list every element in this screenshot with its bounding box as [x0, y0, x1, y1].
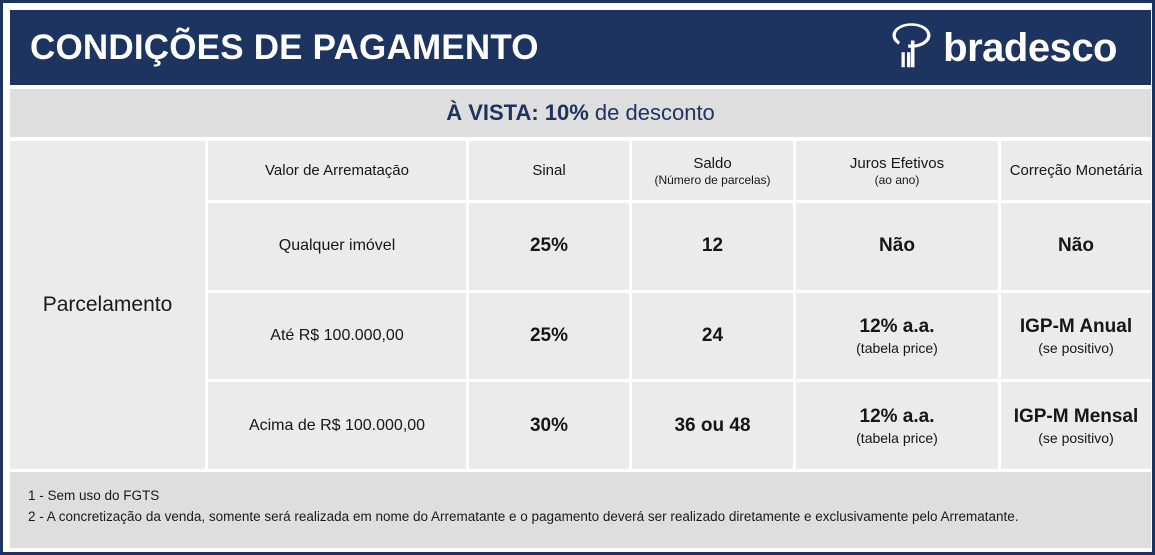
footnotes-section: 1 - Sem uso do FGTS 2 - A concretização …: [10, 472, 1151, 548]
cell-correcao: Não: [1001, 203, 1151, 290]
cell-valor-text: Até R$ 100.000,00: [270, 327, 403, 345]
cell-juros-note: (tabela price): [856, 430, 938, 446]
cell-saldo-text: 24: [702, 325, 723, 347]
column-header-correcao-title: Correção Monetária: [1010, 162, 1143, 179]
cell-valor: Qualquer imóvel: [208, 203, 466, 290]
footnote-1: 1 - Sem uso do FGTS: [28, 486, 1151, 507]
cell-valor: Acima de R$ 100.000,00: [208, 382, 466, 469]
cell-saldo: 24: [632, 293, 793, 380]
footnote-2: 2 - A concretização da venda, somente se…: [28, 507, 1151, 528]
table-row: Até R$ 100.000,00 25% 24 12% a.a. (tabel…: [208, 293, 1151, 380]
cell-saldo: 12: [632, 203, 793, 290]
table-grid: Valor de Arremataçāo Sinal Saldo (Número…: [208, 141, 1151, 469]
cell-juros: 12% a.a. (tabela price): [796, 382, 998, 469]
column-header-saldo: Saldo (Número de parcelas): [632, 141, 793, 200]
bradesco-tree-logo-icon: [881, 19, 937, 76]
table-header-row: Valor de Arremataçāo Sinal Saldo (Número…: [208, 141, 1151, 200]
cell-correcao: IGP-M Mensal (se positivo): [1001, 382, 1151, 469]
cell-sinal: 30%: [469, 382, 629, 469]
discount-text: À VISTA: 10% de desconto: [446, 100, 715, 126]
payment-conditions-card: CONDIÇÕES DE PAGAMENTO bradesco À VISTA:…: [0, 0, 1155, 555]
discount-strong: À VISTA: 10%: [446, 100, 589, 125]
cell-correcao-text: Não: [1058, 235, 1094, 257]
cell-juros-text: 12% a.a.: [860, 406, 935, 428]
cell-valor: Até R$ 100.000,00: [208, 293, 466, 380]
discount-light: de desconto: [589, 100, 715, 125]
page-title: CONDIÇÕES DE PAGAMENTO: [30, 28, 539, 68]
brand-name: bradesco: [943, 28, 1117, 68]
column-header-valor: Valor de Arremataçāo: [208, 141, 466, 200]
column-header-saldo-sub: (Número de parcelas): [654, 173, 770, 187]
cell-correcao: IGP-M Anual (se positivo): [1001, 293, 1151, 380]
cell-saldo-text: 36 ou 48: [674, 415, 750, 437]
cell-correcao-text: IGP-M Mensal: [1014, 406, 1139, 428]
cell-sinal-text: 30%: [530, 415, 568, 437]
column-header-juros-sub: (ao ano): [875, 173, 920, 187]
cell-correcao-note: (se positivo): [1038, 430, 1113, 446]
cell-saldo: 36 ou 48: [632, 382, 793, 469]
column-header-sinal-title: Sinal: [532, 162, 565, 179]
conditions-table: Parcelamento Valor de Arremataçāo Sinal …: [10, 141, 1151, 469]
cell-juros-note: (tabela price): [856, 340, 938, 356]
table-row: Acima de R$ 100.000,00 30% 36 ou 48 12% …: [208, 382, 1151, 469]
cell-correcao-text: IGP-M Anual: [1020, 316, 1132, 338]
column-header-correcao: Correção Monetária: [1001, 141, 1151, 200]
cell-saldo-text: 12: [702, 235, 723, 257]
cell-juros: 12% a.a. (tabela price): [796, 293, 998, 380]
cell-correcao-note: (se positivo): [1038, 340, 1113, 356]
cell-juros: Não: [796, 203, 998, 290]
column-header-juros-title: Juros Efetivos: [850, 155, 944, 172]
brand-lockup: bradesco: [881, 19, 1135, 76]
table-row: Qualquer imóvel 25% 12 Não Não: [208, 203, 1151, 290]
column-header-saldo-title: Saldo: [693, 155, 731, 172]
cell-valor-text: Acima de R$ 100.000,00: [249, 417, 425, 435]
cell-sinal-text: 25%: [530, 325, 568, 347]
cell-juros-text: 12% a.a.: [860, 316, 935, 338]
cell-sinal: 25%: [469, 293, 629, 380]
cell-sinal: 25%: [469, 203, 629, 290]
discount-banner: À VISTA: 10% de desconto: [10, 89, 1151, 137]
cell-sinal-text: 25%: [530, 235, 568, 257]
column-header-sinal: Sinal: [469, 141, 629, 200]
cell-valor-text: Qualquer imóvel: [279, 237, 396, 255]
header-banner: CONDIÇÕES DE PAGAMENTO bradesco: [10, 10, 1151, 85]
column-header-juros: Juros Efetivos (ao ano): [796, 141, 998, 200]
cell-juros-text: Não: [879, 235, 915, 257]
row-group-label: Parcelamento: [10, 141, 205, 469]
column-header-valor-title: Valor de Arremataçāo: [265, 162, 409, 179]
